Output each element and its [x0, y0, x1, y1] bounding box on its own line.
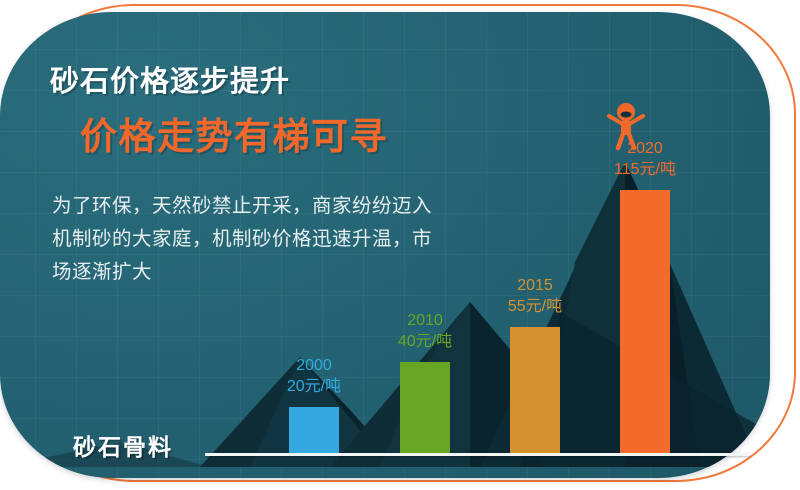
chart-baseline: [205, 453, 750, 456]
bar-year-2010: 2010: [365, 310, 485, 331]
bar-value-2020: 115元/吨: [585, 159, 705, 180]
infographic-canvas: 砂石价格逐步提升 价格走势有梯可寻 为了环保，天然砂禁止开采，商家纷纷迈入 机制…: [0, 0, 800, 490]
bar-2015: [510, 327, 560, 453]
bar-2000: [289, 407, 339, 453]
bar-2010: [400, 362, 450, 453]
bar-label-2000: 2000 20元/吨: [254, 355, 374, 397]
bar-label-2010: 2010 40元/吨: [365, 310, 485, 352]
person-cheering-icon: [600, 100, 652, 152]
bar-value-2015: 55元/吨: [475, 296, 595, 317]
bar-label-2015: 2015 55元/吨: [475, 275, 595, 317]
bar-year-2015: 2015: [475, 275, 595, 296]
bar-value-2010: 40元/吨: [365, 331, 485, 352]
bar-chart: 2000 20元/吨 2010 40元/吨 2015 55元/吨 2020 11…: [0, 0, 800, 490]
bar-value-2000: 20元/吨: [254, 376, 374, 397]
bar-year-2000: 2000: [254, 355, 374, 376]
bar-2020: [620, 190, 670, 453]
